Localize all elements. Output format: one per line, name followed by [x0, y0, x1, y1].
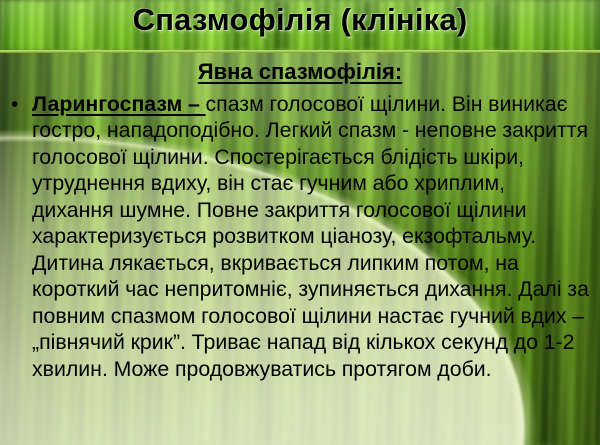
bullet-body-text: спазм голосової щілини. Він виникає гост…	[32, 92, 589, 381]
bullet-paragraph: Ларингоспазм – спазм голосової щілини. В…	[32, 91, 590, 383]
bullet-list-item: • Ларингоспазм – спазм голосової щілини.…	[0, 91, 600, 383]
slide-content: Явна спазмофілія: • Ларингоспазм – спазм…	[0, 53, 600, 445]
bullet-lead-term: Ларингоспазм –	[32, 92, 206, 116]
slide: Спазмофілія (клініка) Явна спазмофілія: …	[0, 0, 600, 445]
bullet-point-icon: •	[11, 92, 18, 118]
content-subtitle: Явна спазмофілія:	[0, 59, 600, 85]
slide-title: Спазмофілія (клініка)	[0, 2, 600, 38]
